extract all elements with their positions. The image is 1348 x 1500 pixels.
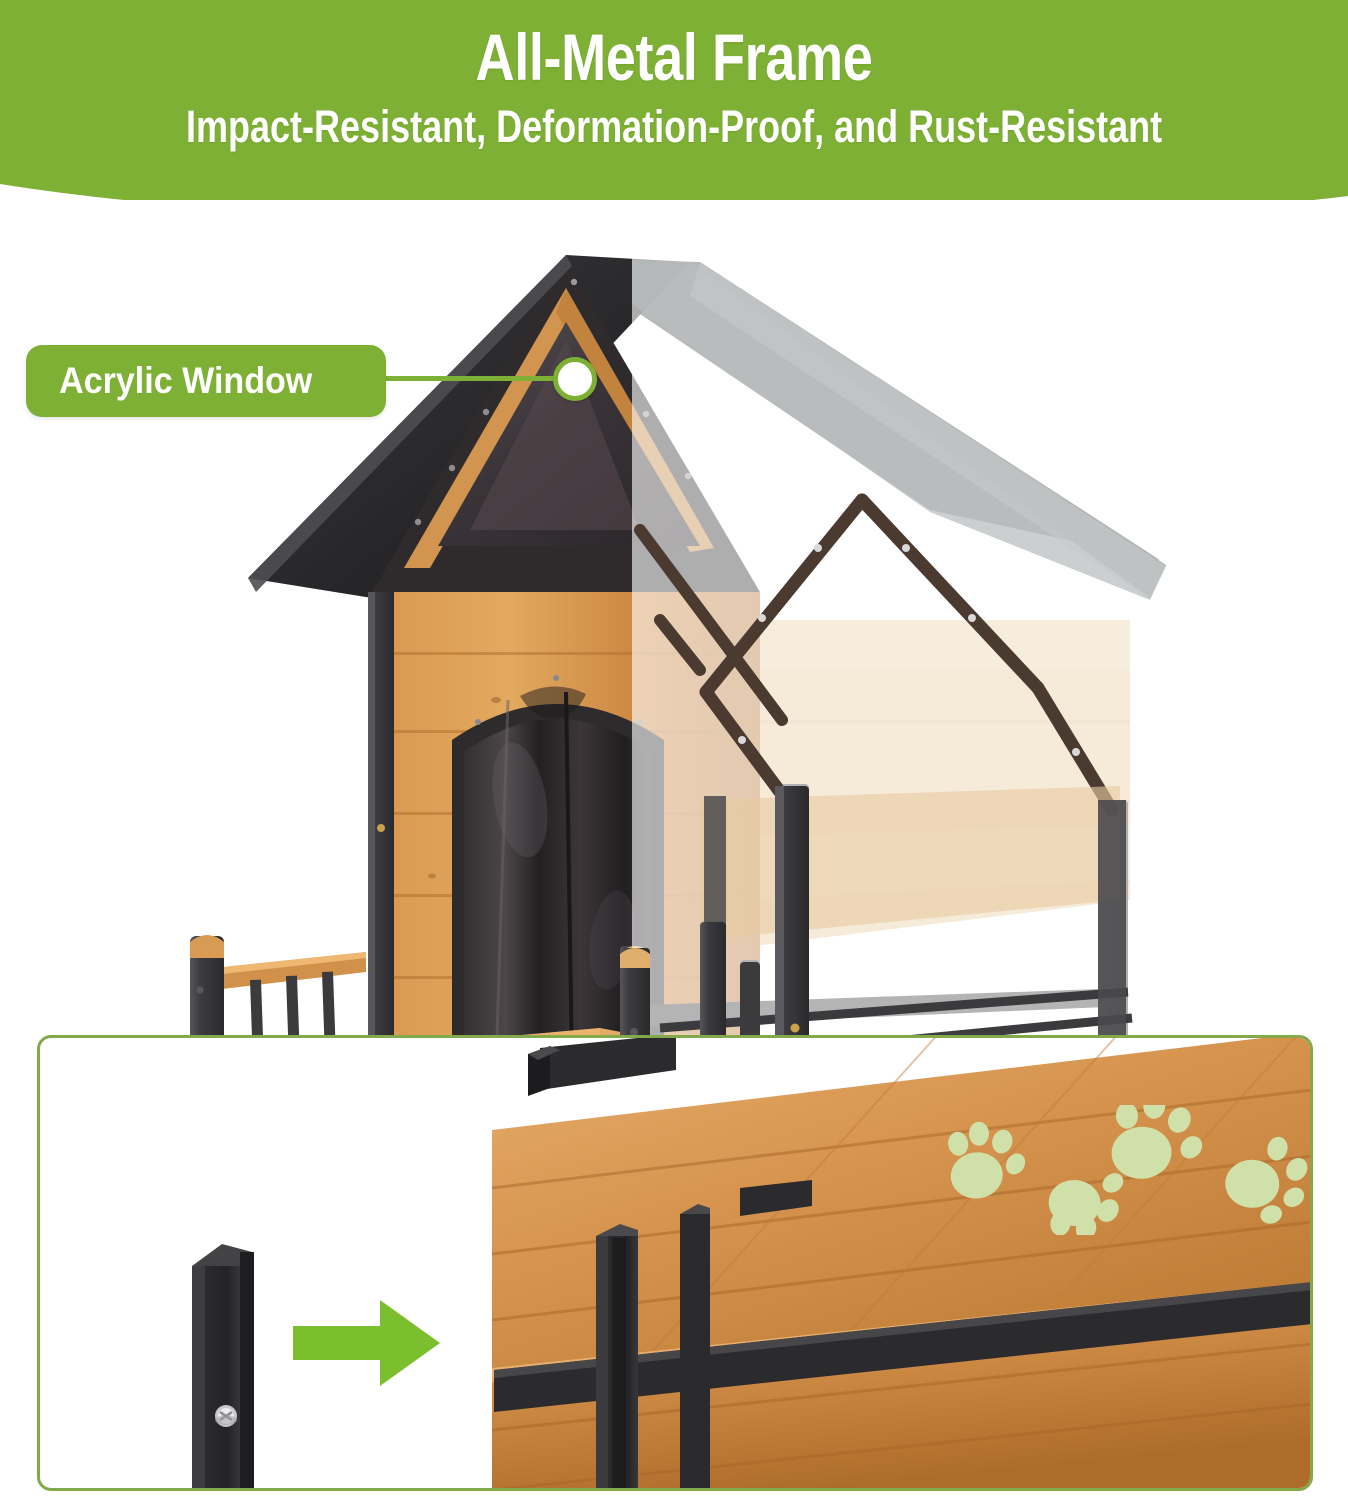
callout-leader-line: [383, 376, 575, 381]
callout-label: Acrylic Window: [26, 360, 312, 402]
green-right-arrow-icon: [293, 1300, 440, 1386]
paw-prints-decoration: [940, 1105, 1320, 1235]
callout-marker-dot: [553, 357, 597, 401]
page-subtitle: Impact-Resistant, Deformation-Proof, and…: [186, 104, 1162, 149]
hero-product-image: [0, 200, 1348, 1040]
porch-railing-left: [190, 935, 368, 1040]
callout-acrylic-window[interactable]: Acrylic Window: [26, 345, 386, 417]
detail-panel-metal-post-install: [37, 1035, 1313, 1491]
page-title: All-Metal Frame: [476, 24, 873, 90]
ghost-cutaway-overlay: [566, 200, 1348, 1040]
loose-metal-post: [192, 1244, 254, 1488]
dog-house-illustration: [0, 200, 1348, 1040]
